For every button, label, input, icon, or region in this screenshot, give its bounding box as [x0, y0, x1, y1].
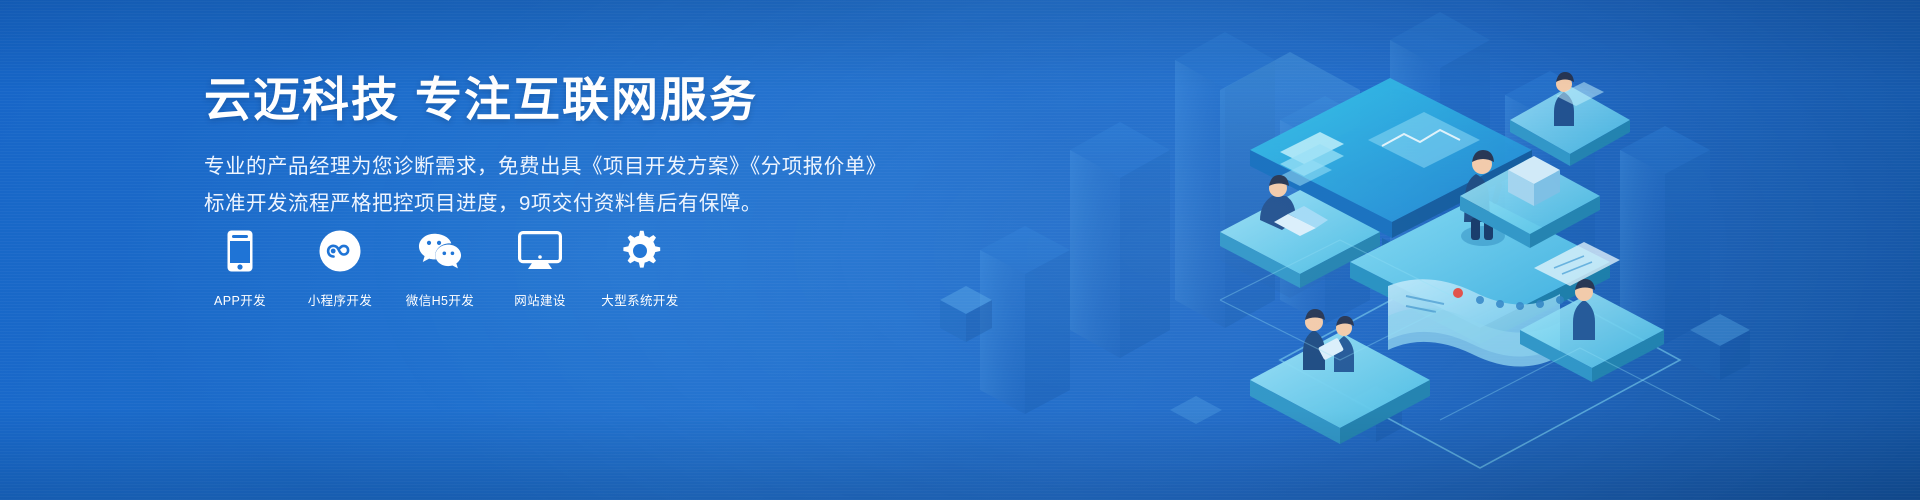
gear-icon [618, 228, 662, 274]
subtitle-line-1: 专业的产品经理为您诊断需求，免费出具《项目开发方案》《分项报价单》 [204, 149, 904, 185]
monitor-icon [518, 228, 562, 274]
isometric-illustration [920, 0, 1920, 500]
service-item-wechat-h5[interactable]: 微信H5开发 [404, 228, 476, 309]
hero-banner: 云迈科技 专注互联网服务 专业的产品经理为您诊断需求，免费出具《项目开发方案》《… [0, 0, 1920, 500]
subtitle-line-2: 标准开发流程严格把控项目进度，9项交付资料售后有保障。 [204, 186, 904, 222]
service-label: 大型系统开发 [601, 290, 678, 309]
service-item-website[interactable]: 网站建设 [504, 228, 576, 309]
mobile-phone-icon [218, 228, 262, 274]
service-label: APP开发 [214, 290, 266, 309]
mini-program-icon [318, 228, 362, 274]
service-item-large-system[interactable]: 大型系统开发 [604, 228, 676, 309]
service-list: APP开发 小程序开发 [204, 228, 676, 309]
wechat-icon [418, 228, 462, 274]
service-label: 网站建设 [514, 290, 566, 309]
service-item-mini-program[interactable]: 小程序开发 [304, 228, 376, 309]
service-item-app[interactable]: APP开发 [204, 228, 276, 309]
service-label: 小程序开发 [308, 290, 373, 309]
page-title: 云迈科技 专注互联网服务 [204, 72, 904, 127]
service-label: 微信H5开发 [406, 290, 474, 309]
banner-copy: 云迈科技 专注互联网服务 专业的产品经理为您诊断需求，免费出具《项目开发方案》《… [204, 72, 904, 222]
banner-subtitle: 专业的产品经理为您诊断需求，免费出具《项目开发方案》《分项报价单》 标准开发流程… [204, 149, 904, 222]
